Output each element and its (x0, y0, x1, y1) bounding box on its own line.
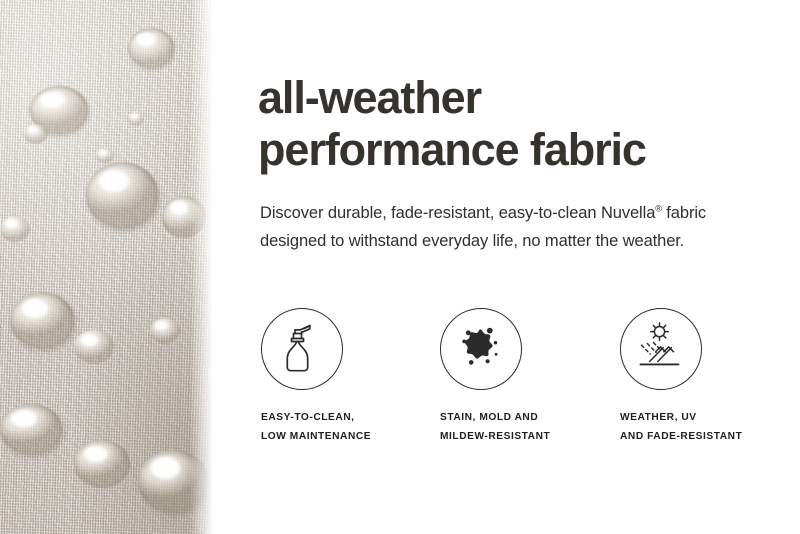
marketing-banner: all-weather performance fabric Discover … (0, 0, 800, 534)
water-droplet (86, 162, 158, 228)
page-title: all-weather performance fabric (258, 72, 798, 176)
feature-caption: EASY-TO-CLEAN, LOW MAINTENANCE (261, 408, 436, 446)
feature-list: EASY-TO-CLEAN, LOW MAINTENANCE (216, 308, 800, 468)
water-droplet (10, 292, 74, 348)
body-copy-part-1: Discover durable, fade-resistant, easy-t… (260, 204, 655, 222)
photo-edge-fade (190, 0, 216, 534)
water-droplet (0, 404, 62, 454)
content-panel: all-weather performance fabric Discover … (216, 0, 800, 534)
water-droplet (150, 318, 180, 344)
feature-item-easy-to-clean: EASY-TO-CLEAN, LOW MAINTENANCE (261, 308, 436, 446)
water-droplet (74, 440, 130, 488)
water-beading-fabric-photo (0, 0, 216, 534)
water-droplet (128, 28, 174, 68)
water-droplet (24, 124, 48, 144)
water-droplet (74, 330, 114, 364)
water-droplet (96, 148, 114, 163)
water-droplet (0, 216, 30, 242)
body-copy: Discover durable, fade-resistant, easy-t… (260, 200, 760, 255)
feature-caption: WEATHER, UV AND FADE-RESISTANT (620, 408, 795, 446)
stain-splat-icon (440, 308, 522, 390)
feature-item-weather-uv-resistant: WEATHER, UV AND FADE-RESISTANT (620, 308, 795, 446)
feature-item-stain-resistant: STAIN, MOLD AND MILDEW-RESISTANT (440, 308, 615, 446)
water-droplet (128, 112, 144, 126)
sun-uv-deflection-icon (620, 308, 702, 390)
spray-bottle-icon (261, 308, 343, 390)
feature-caption: STAIN, MOLD AND MILDEW-RESISTANT (440, 408, 615, 446)
